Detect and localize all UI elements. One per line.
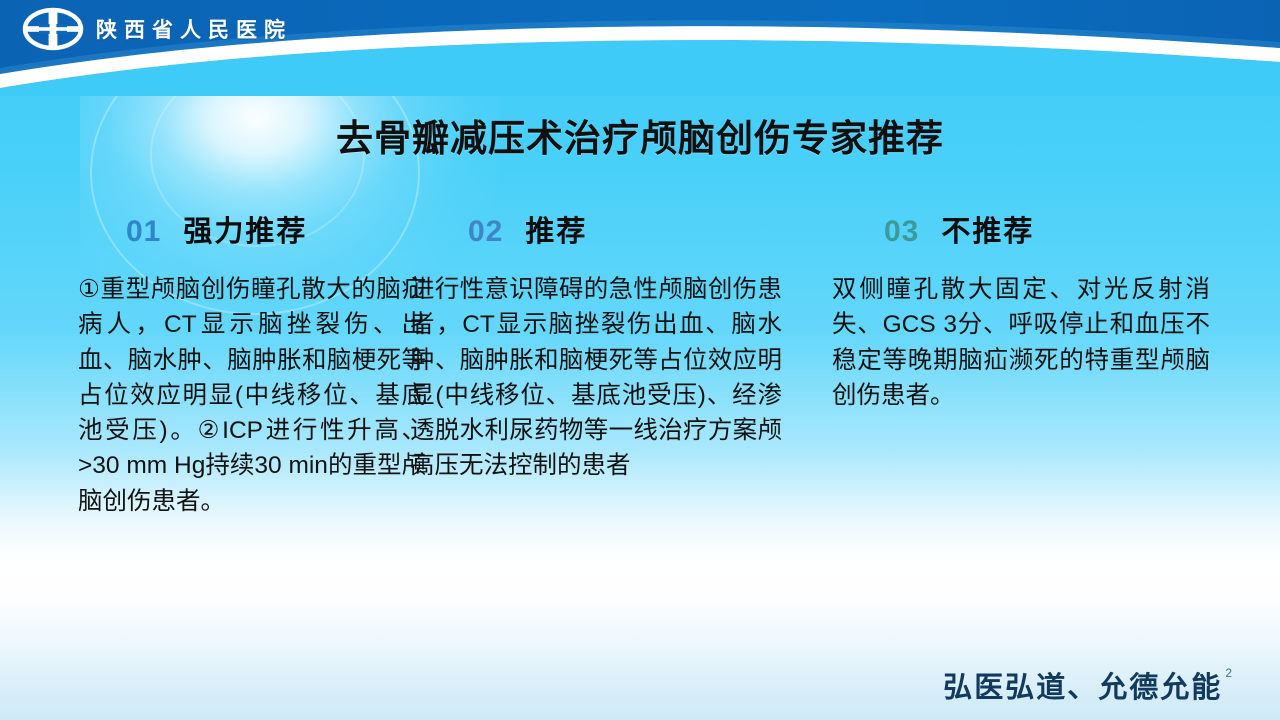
column-header-01: 01 强力推荐 [78, 208, 400, 250]
column-number-03: 03 [884, 215, 919, 249]
column-body-02: 进行性意识障碍的急性颅脑创伤患者，CT显示脑挫裂伤出血、脑水肿、脑肿胀和脑梗死等… [410, 272, 782, 484]
slide-canvas: 陕西省人民医院 去骨瓣减压术治疗颅脑创伤专家推荐 01 强力推荐 ①重型颅脑创伤… [0, 0, 1280, 720]
brand-lockup: 陕西省人民医院 [22, 6, 292, 52]
recommendation-columns: 01 强力推荐 ①重型颅脑创伤瞳孔散大的脑疝病人，CT显示脑挫裂伤、出血、脑水肿… [0, 208, 1280, 519]
hospital-name: 陕西省人民医院 [96, 14, 292, 44]
column-label-03: 不推荐 [941, 208, 1034, 250]
column-body-03: 双侧瞳孔散大固定、对光反射消失、GCS 3分、呼吸停止和血压不稳定等晚期脑疝濒死… [832, 272, 1210, 413]
page-number: 2 [1225, 666, 1232, 680]
column-header-03: 03 不推荐 [832, 208, 1280, 250]
column-label-01: 强力推荐 [183, 208, 307, 250]
recommendation-column-02: 02 推荐 进行性意识障碍的急性颅脑创伤患者，CT显示脑挫裂伤出血、脑水肿、脑肿… [400, 208, 820, 519]
page-title: 去骨瓣减压术治疗颅脑创伤专家推荐 [0, 108, 1280, 162]
footer-slogan: 弘医弘道、允德允能 [943, 664, 1222, 706]
column-header-02: 02 推荐 [410, 208, 820, 250]
recommendation-column-01: 01 强力推荐 ①重型颅脑创伤瞳孔散大的脑疝病人，CT显示脑挫裂伤、出血、脑水肿… [0, 208, 400, 519]
column-number-02: 02 [468, 215, 503, 249]
column-number-01: 01 [126, 215, 161, 249]
column-label-02: 推荐 [525, 208, 587, 250]
footer: 弘医弘道、允德允能 2 [943, 664, 1232, 706]
header-band: 陕西省人民医院 [0, 0, 1280, 96]
column-body-01: ①重型颅脑创伤瞳孔散大的脑疝病人，CT显示脑挫裂伤、出血、脑水肿、脑肿胀和脑梗死… [78, 272, 426, 519]
hospital-cross-oval-logo-icon [22, 6, 84, 52]
recommendation-column-03: 03 不推荐 双侧瞳孔散大固定、对光反射消失、GCS 3分、呼吸停止和血压不稳定… [820, 208, 1280, 519]
